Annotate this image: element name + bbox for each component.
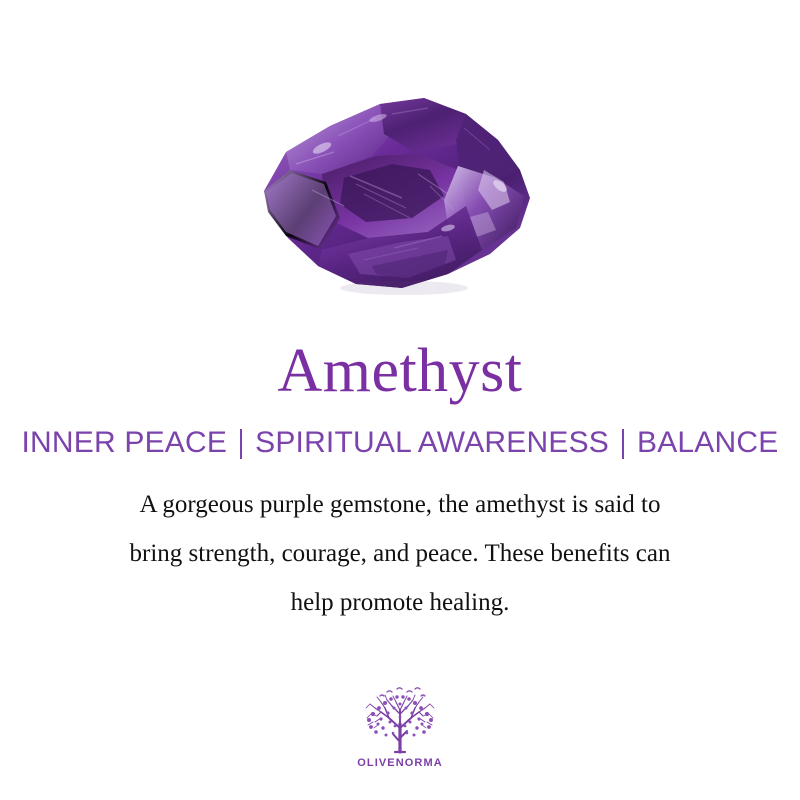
gemstone-icon bbox=[252, 78, 552, 303]
keyword-balance: BALANCE bbox=[637, 428, 778, 458]
description-line: bring strength, courage, and peace. Thes… bbox=[30, 529, 770, 578]
page-title: Amethyst bbox=[277, 318, 522, 402]
hero-image-area bbox=[0, 0, 800, 318]
brand-name: OLIVENORMA bbox=[357, 757, 443, 769]
amethyst-gemstone-image bbox=[252, 78, 552, 303]
keyword-spiritual-awareness: SPIRITUAL AWARENESS bbox=[255, 428, 609, 458]
keyword-inner-peace: INNER PEACE bbox=[22, 428, 228, 458]
description-line: help promote healing. bbox=[30, 578, 770, 627]
keyword-separator bbox=[240, 429, 242, 459]
description-text: A gorgeous purple gemstone, the amethyst… bbox=[30, 458, 770, 627]
keyword-row: INNER PEACE SPIRITUAL AWARENESS BALANCE bbox=[22, 402, 779, 458]
gem-contact-shadow bbox=[340, 281, 468, 295]
bird-icon bbox=[380, 688, 425, 696]
amethyst-info-card: Amethyst INNER PEACE SPIRITUAL AWARENESS… bbox=[0, 0, 800, 800]
keyword-separator bbox=[622, 429, 624, 459]
tree-logo-icon bbox=[357, 684, 443, 754]
brand-logo: OLIVENORMA bbox=[0, 684, 800, 769]
description-line: A gorgeous purple gemstone, the amethyst… bbox=[30, 480, 770, 529]
